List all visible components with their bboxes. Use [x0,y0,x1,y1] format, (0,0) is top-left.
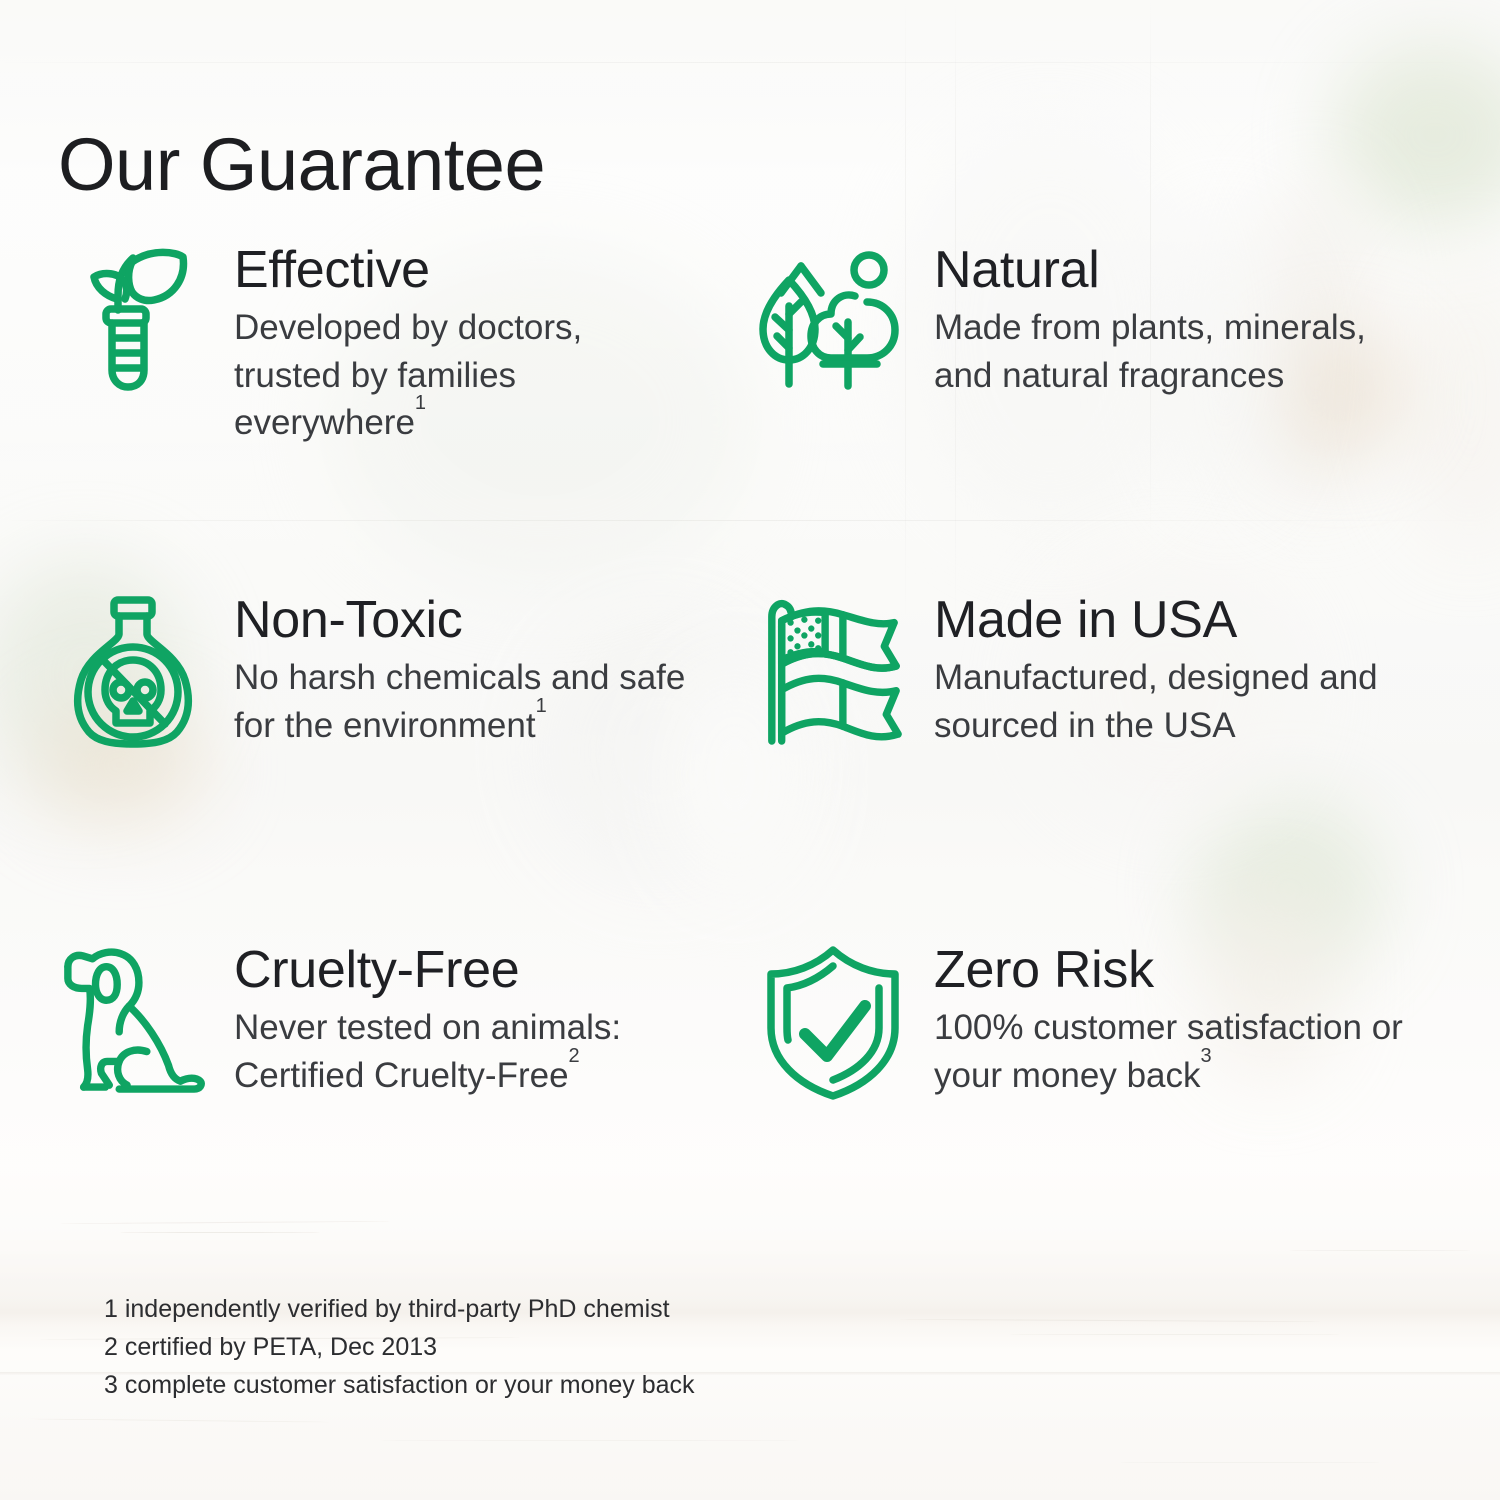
footnotes: 1 independently verified by third-party … [104,1290,695,1404]
trees-mountain-sun-icon [758,240,908,404]
feature-heading: Natural [934,242,1404,298]
feature-body: Developed by doctors, trusted by familie… [234,304,694,447]
feature-body: No harsh chemicals and safe for the envi… [234,654,694,749]
usa-flag-icon [758,590,908,754]
guarantee-infographic: Our Guarantee Ef [0,0,1500,1500]
feature-natural: Natural Made from plants, minerals, and … [758,240,1448,590]
feature-body: Made from plants, minerals, and natural … [934,304,1404,399]
feature-cruelty-free: Cruelty-Free Never tested on animals: Ce… [58,940,758,1240]
feature-heading: Made in USA [934,592,1404,648]
feature-effective: Effective Developed by doctors, trusted … [58,240,758,590]
feature-body: Manufactured, designed and sourced in th… [934,654,1404,749]
feature-body: Never tested on animals: Certified Cruel… [234,1004,694,1099]
footnote-1: 1 independently verified by third-party … [104,1290,695,1328]
feature-heading: Effective [234,242,694,298]
poison-bottle-skull-no-icon [58,590,208,754]
feature-heading: Cruelty-Free [234,942,694,998]
shield-check-icon [758,940,908,1104]
sitting-dog-icon [58,940,208,1104]
feature-non-toxic: Non-Toxic No harsh chemicals and safe fo… [58,590,758,940]
footnote-2: 2 certified by PETA, Dec 2013 [104,1328,695,1366]
feature-heading: Zero Risk [934,942,1404,998]
feature-heading: Non-Toxic [234,592,694,648]
feature-made-in-usa: Made in USA Manufactured, designed and s… [758,590,1448,940]
feature-grid: Effective Developed by doctors, trusted … [58,240,1448,1240]
feature-body: 100% customer satisfaction or your money… [934,1004,1404,1099]
page-title: Our Guarantee [58,128,545,202]
feature-zero-risk: Zero Risk 100% customer satisfaction or … [758,940,1448,1240]
footnote-3: 3 complete customer satisfaction or your… [104,1366,695,1404]
test-tube-plant-icon [58,240,208,404]
